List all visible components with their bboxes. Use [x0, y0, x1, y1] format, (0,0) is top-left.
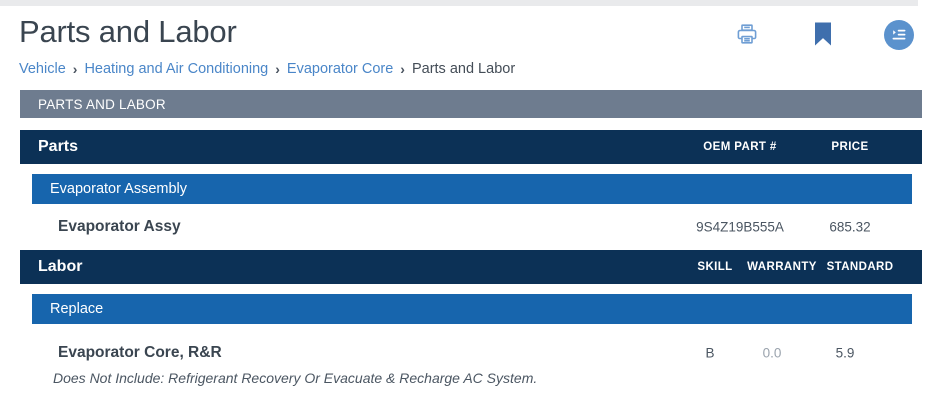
bookmark-button[interactable]	[806, 18, 840, 52]
print-button[interactable]	[730, 18, 764, 52]
page-title: Parts and Labor	[19, 12, 237, 52]
breadcrumb-separator: ›	[73, 59, 78, 79]
breadcrumb: Vehicle › Heating and Air Conditioning ›…	[19, 59, 515, 79]
breadcrumb-item-evaporator-core[interactable]: Evaporator Core	[287, 59, 393, 79]
section-header-parts-and-labor: PARTS AND LABOR	[20, 90, 922, 118]
subgroup-label: Replace	[50, 301, 103, 317]
group-header-parts: Parts OEM PART # PRICE	[20, 130, 922, 164]
group-label-parts: Parts	[38, 138, 78, 156]
group-header-labor: Labor SKILL WARRANTY STANDARD	[20, 250, 922, 284]
labor-operation-name: Evaporator Core, R&R	[58, 344, 222, 362]
breadcrumb-item-heating-and-air-conditioning[interactable]: Heating and Air Conditioning	[84, 59, 268, 79]
table-row[interactable]: Evaporator Assy 9S4Z19B555A 685.32	[20, 210, 922, 244]
subgroup-header-replace: Replace	[32, 294, 912, 324]
part-name: Evaporator Assy	[58, 218, 181, 236]
spacer	[0, 118, 934, 130]
spacer	[0, 324, 934, 336]
column-header-standard: STANDARD	[790, 261, 930, 273]
breadcrumb-separator: ›	[400, 59, 405, 79]
table-row[interactable]: Evaporator Core, R&R B 0.0 5.9	[20, 336, 922, 370]
breadcrumb-item-vehicle[interactable]: Vehicle	[19, 59, 66, 79]
spacer	[0, 164, 934, 174]
breadcrumb-item-parts-and-labor: Parts and Labor	[412, 59, 515, 79]
notes-list-icon	[884, 20, 914, 50]
subgroup-header-evaporator-assembly: Evaporator Assembly	[32, 174, 912, 204]
page-header: Parts and Labor Vehicle › Heating and Ai…	[0, 6, 934, 90]
bookmark-icon	[812, 21, 834, 50]
subgroup-label: Evaporator Assembly	[50, 181, 187, 197]
column-header-price: PRICE	[780, 141, 920, 153]
breadcrumb-separator: ›	[275, 59, 280, 79]
part-price: 685.32	[780, 220, 920, 235]
print-icon	[735, 22, 759, 49]
notes-list-button[interactable]	[882, 18, 916, 52]
labor-standard-hours: 5.9	[775, 346, 915, 361]
labor-note-row: Does Not Include: Refrigerant Recovery O…	[20, 370, 922, 394]
parts-and-labor-table: PARTS AND LABOR Parts OEM PART # PRICE E…	[0, 90, 934, 394]
header-icon-group	[730, 18, 916, 52]
group-label-labor: Labor	[38, 258, 82, 276]
spacer	[0, 284, 934, 294]
section-title: PARTS AND LABOR	[38, 97, 166, 112]
labor-note-text: Does Not Include: Refrigerant Recovery O…	[53, 370, 537, 386]
